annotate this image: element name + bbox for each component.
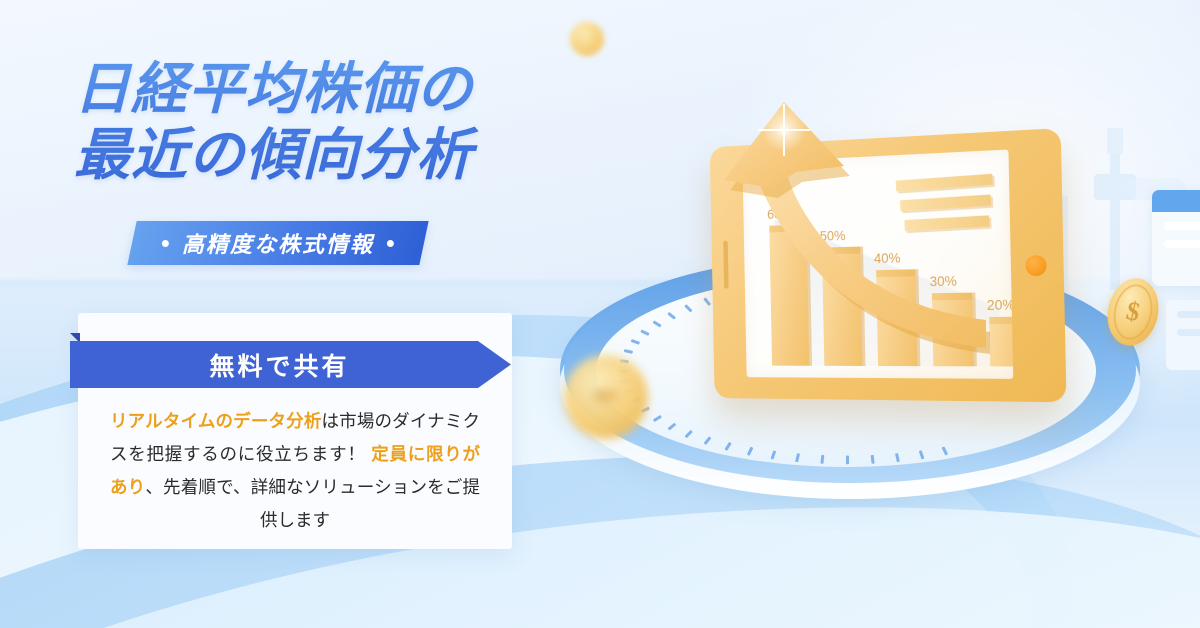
tick-mark: [795, 453, 799, 462]
tick-mark: [641, 329, 650, 335]
info-card: 無料で共有 リアルタイムのデータ分析は市場のダイナミクスを把握するのに役立ちます…: [78, 313, 512, 549]
share-ribbon[interactable]: 無料で共有: [70, 341, 511, 388]
tick-mark: [871, 455, 874, 464]
tick-mark: [653, 415, 662, 422]
headline-line-2: 最近の傾向分析: [74, 122, 594, 188]
tick-mark: [724, 442, 731, 451]
tick-mark: [668, 423, 676, 430]
share-ribbon-label: 無料で共有: [209, 347, 349, 383]
page-title: 日経平均株価の 最近の傾向分析: [74, 56, 594, 188]
tick-mark: [631, 339, 640, 344]
card-description: リアルタイムのデータ分析は市場のダイナミクスを把握するのに役立ちます！ 定員に限…: [110, 405, 480, 537]
sparkle-icon: [758, 104, 810, 156]
highlight-phrase-1: リアルタイムのデータ分析: [110, 411, 322, 431]
tick-mark: [942, 447, 948, 456]
tick-mark: [919, 450, 924, 459]
tick-mark: [846, 455, 849, 464]
tick-mark: [653, 320, 662, 327]
description-text-2: 、先着順で、詳細なソリューションをご提供します: [145, 477, 480, 530]
tick-mark: [895, 453, 899, 462]
bullet-dot-icon: [162, 240, 169, 247]
coin-icon-top: [570, 22, 604, 56]
growth-arrow-icon: [668, 92, 998, 382]
bullet-dot-icon: [387, 240, 394, 247]
subtitle-badge: 高精度な株式情報: [127, 221, 428, 265]
headline-line-1: 日経平均株価の: [74, 57, 473, 120]
tick-mark: [624, 349, 633, 353]
hero-illustration: 60%50%40%30%20%: [540, 0, 1200, 628]
coin-icon-left: [564, 355, 648, 439]
tick-mark: [685, 430, 693, 438]
subtitle-badge-label: 高精度な株式情報: [182, 227, 374, 259]
tick-mark: [704, 436, 711, 444]
tick-mark: [771, 450, 776, 459]
tick-mark: [747, 447, 753, 456]
tick-mark: [820, 455, 823, 464]
home-button-icon[interactable]: [1025, 255, 1047, 276]
